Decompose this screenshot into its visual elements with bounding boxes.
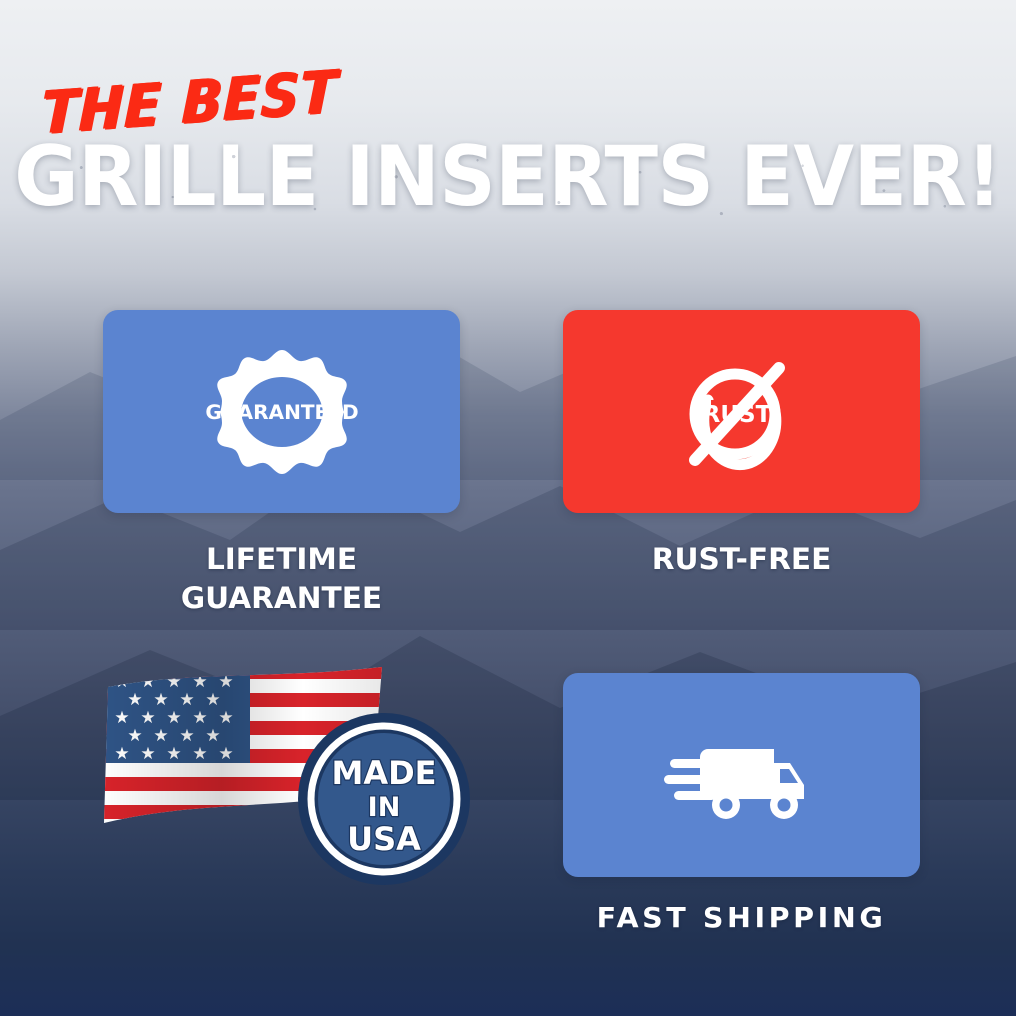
feature-caption: LIFETIME GUARANTEE (99, 540, 463, 619)
feature-caption: RUST-FREE (559, 540, 923, 579)
feature-card[interactable] (563, 673, 920, 877)
feature-card[interactable]: GUARANTEED (103, 310, 460, 513)
headline-block: THE BEST GRILLE INSERTS EVER! (0, 0, 1016, 240)
page-title: GRILLE INSERTS EVER! (0, 136, 1016, 219)
rust-icon-label: RUST (702, 402, 771, 428)
guaranteed-badge-icon: GUARANTEED (202, 342, 362, 482)
feature-tile-made-in-usa[interactable]: ★★★★★ ★★★★ ★★★★★ ★★★★ ★★★★★ MADE IN USA (100, 665, 472, 880)
feature-tile-rust-free[interactable]: RUST RUST-FREE (563, 310, 920, 579)
promo-graphic: THE BEST GRILLE INSERTS EVER! GUARANTEED… (0, 0, 1016, 1016)
feature-card[interactable]: RUST (563, 310, 920, 513)
no-rust-icon: RUST (667, 342, 817, 482)
feature-tile-lifetime-guarantee[interactable]: GUARANTEED LIFETIME GUARANTEE (103, 310, 460, 619)
guaranteed-icon-label: GUARANTEED (205, 401, 358, 424)
made-in-usa-seal-icon: MADE IN USA (296, 711, 472, 887)
feature-caption: FAST SHIPPING (559, 899, 923, 937)
seal-line-3: USA (347, 820, 421, 858)
delivery-truck-icon (664, 725, 819, 825)
seal-line-2: IN (368, 792, 401, 823)
feature-tile-fast-shipping[interactable]: FAST SHIPPING (563, 673, 920, 937)
seal-line-1: MADE (331, 754, 436, 792)
